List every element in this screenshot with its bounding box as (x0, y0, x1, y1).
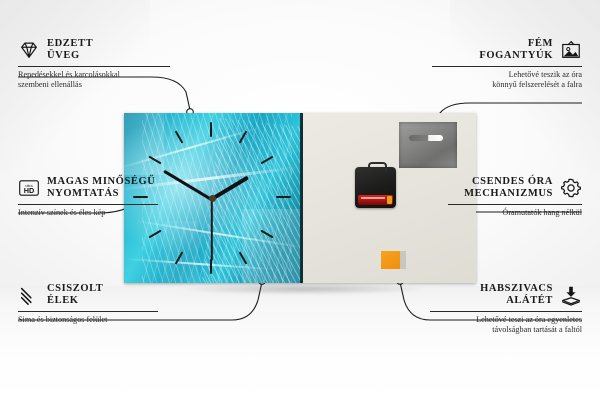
svg-text:HD: HD (24, 186, 35, 195)
divider (18, 66, 170, 67)
callout-metal-handles: FÉM FOGANTYÚK Lehetővé teszik az óra kön… (432, 38, 582, 90)
foam-pad-icon (560, 284, 582, 306)
divider (18, 204, 158, 205)
battery-label (361, 197, 385, 199)
hanger-slot (409, 135, 443, 141)
diamond-icon (18, 39, 40, 61)
callout-title: FÉM FOGANTYÚK (479, 38, 553, 62)
picture-hanger-icon (560, 39, 582, 61)
clock-mechanism-box (355, 167, 396, 208)
polished-edges-icon (18, 284, 40, 306)
callout-description: Repedésekkel és karcolásokkal szembeni e… (18, 70, 170, 90)
clock-hands-hub (209, 195, 216, 202)
gear-icon (560, 177, 582, 199)
callout-foam-underlay: HABSZIVACS ALÁTÉT Lehetővé teszi az óra … (430, 283, 582, 335)
metal-hanger-bracket (399, 122, 457, 168)
divider (430, 311, 582, 312)
product-shadow (130, 281, 476, 297)
battery (358, 195, 393, 205)
divider (432, 66, 582, 67)
callout-description: Intenzív színek és éles kép (18, 208, 158, 218)
callout-title: HABSZIVACS ALÁTÉT (480, 283, 553, 307)
callout-tempered-glass: EDZETT ÜVEG Repedésekkel és karcolásokka… (18, 38, 170, 90)
clock-tick (276, 196, 291, 198)
ultra-hd-icon: ultra HD (18, 177, 40, 199)
callout-description: Lehetővé teszik az óra könnyű felszerelé… (432, 70, 582, 90)
callout-high-quality-print: ultra HD MAGAS MINŐSÉGŰ NYOMTATÁS Intenz… (18, 176, 158, 218)
battery-terminal (387, 196, 392, 204)
clock-tick (210, 122, 212, 137)
callout-title: CSENDES ÓRA MECHANIZMUS (464, 176, 553, 200)
infographic-stage: EDZETT ÜVEG Repedésekkel és karcolásokka… (0, 0, 600, 400)
callout-title: CSISZOLT ÉLEK (47, 283, 103, 307)
mechanism-lug (368, 162, 387, 172)
foam-pad (381, 251, 400, 269)
clock-second-hand (211, 199, 213, 261)
callout-polished-edges: CSISZOLT ÉLEK Sima és biztonságos felüle… (18, 283, 158, 325)
clock-tick (210, 259, 212, 274)
callout-title: MAGAS MINŐSÉGŰ NYOMTATÁS (47, 176, 155, 200)
callout-description: Sima és biztonságos felület (18, 315, 158, 325)
callout-description: Óramutatók hang nélkül (448, 208, 582, 218)
callout-silent-mechanism: CSENDES ÓRA MECHANIZMUS Óramutatók hang … (448, 176, 582, 218)
callout-title: EDZETT ÜVEG (47, 38, 93, 62)
product-image (124, 113, 476, 285)
divider (18, 311, 158, 312)
divider (448, 204, 582, 205)
callout-description: Lehetővé teszi az óra egyenletes távolsá… (430, 315, 582, 335)
